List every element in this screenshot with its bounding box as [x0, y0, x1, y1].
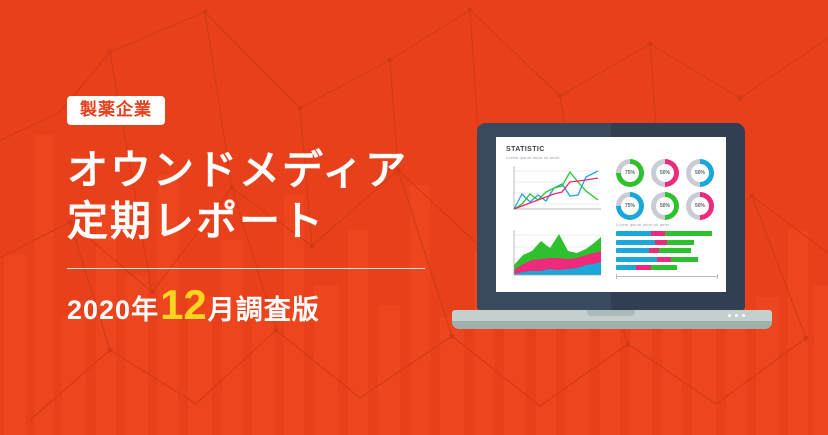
bar-row — [616, 265, 718, 270]
horizontal-bar-chart: Lorem ipsum dolor sit amet. — [616, 222, 718, 282]
donut-gauge: 50% — [686, 192, 714, 220]
laptop-trackpad — [587, 310, 635, 316]
date-month-number: 12 — [160, 286, 207, 324]
donut-value: 50% — [691, 164, 709, 182]
promo-banner: 製薬企業 オウンドメディア 定期レポート 2020年 12 月調査版 STATI… — [0, 0, 828, 435]
donut-value: 50% — [691, 197, 709, 215]
category-badge: 製薬企業 — [67, 96, 165, 125]
donut-value: 50% — [656, 164, 674, 182]
laptop-illustration: STATISTIC Lorem ipsum dolor sit amet. — [452, 123, 772, 338]
line-chart — [506, 163, 604, 215]
dashboard-heading: STATISTIC — [506, 146, 716, 153]
bar-chart-axis — [616, 274, 718, 280]
donut-gauge: 75% — [616, 159, 644, 187]
date-suffix: 月調査版 — [208, 288, 320, 327]
bar-row — [616, 240, 718, 245]
page-title: オウンドメディア 定期レポート — [67, 145, 447, 248]
headline-block: 製薬企業 オウンドメディア 定期レポート 2020年 12 月調査版 — [67, 96, 447, 327]
laptop-base-dots — [728, 314, 745, 317]
donut-value: 75% — [621, 197, 639, 215]
divider — [67, 268, 425, 269]
title-line-2: 定期レポート — [67, 196, 447, 248]
survey-date: 2020年 12 月調査版 — [67, 286, 447, 327]
donut-gauge-group: 75% 50% 50% 75% 50 — [616, 159, 716, 214]
donut-row-1: 75% 50% 50% — [616, 159, 716, 187]
donut-value: 50% — [656, 197, 674, 215]
bar-row — [616, 231, 718, 236]
donut-gauge: 75% — [616, 192, 644, 220]
dashboard: STATISTIC Lorem ipsum dolor sit amet. — [496, 137, 726, 292]
laptop-base-lip — [452, 321, 772, 329]
donut-gauge: 50% — [651, 192, 679, 220]
area-chart — [506, 225, 604, 282]
title-line-1: オウンドメディア — [67, 147, 408, 193]
bar-row — [616, 248, 718, 253]
donut-value: 75% — [621, 164, 639, 182]
date-prefix: 2020年 — [67, 288, 159, 327]
bar-row — [616, 257, 718, 262]
laptop-screen: STATISTIC Lorem ipsum dolor sit amet. — [496, 137, 726, 292]
bar-chart-label: Lorem ipsum dolor sit amet. — [616, 222, 718, 227]
donut-gauge: 50% — [686, 159, 714, 187]
donut-gauge: 50% — [651, 159, 679, 187]
donut-row-2: 75% 50% 50% — [616, 192, 716, 220]
